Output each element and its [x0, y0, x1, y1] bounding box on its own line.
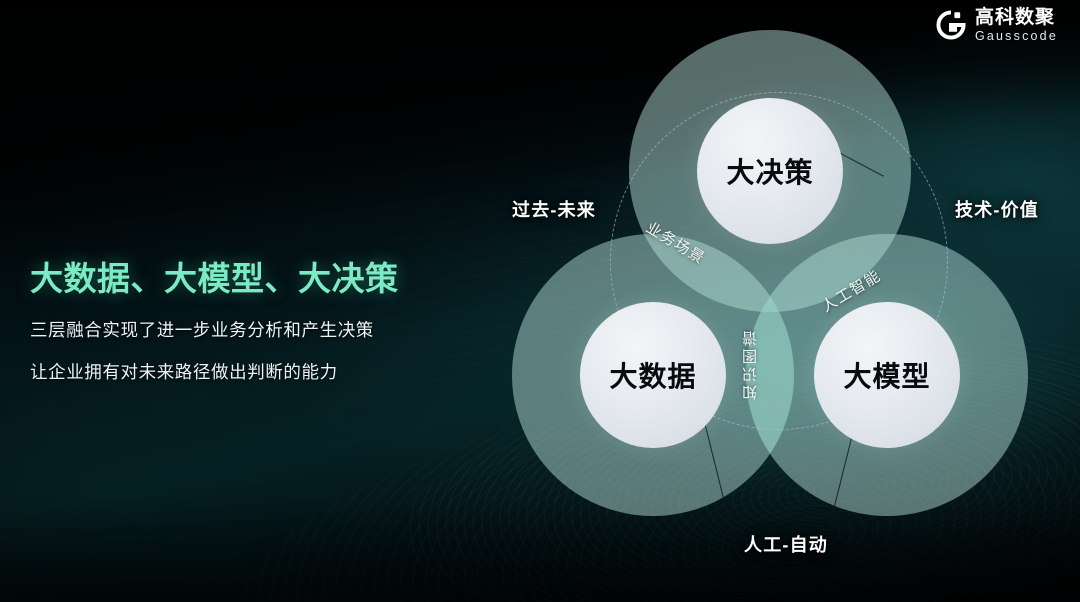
overlap-label-knowledge-graph: 知识图谱 — [740, 328, 761, 400]
venn-label-decision: 大决策 — [726, 151, 813, 191]
axis-label-manual-auto: 人工-自动 — [744, 531, 828, 557]
venn-label-bigmodel: 大模型 — [843, 355, 930, 395]
venn-diagram: 大决策 大数据 大模型 业务场景 人工智能 知识图谱 — [488, 10, 1068, 590]
venn-inner-disc-bigmodel: 大模型 — [814, 302, 960, 448]
venn-label-bigdata: 大数据 — [609, 355, 696, 395]
copy-line-2: 让企业拥有对未来路径做出判断的能力 — [30, 359, 460, 384]
copy-block: 大数据、大模型、大决策 三层融合实现了进一步业务分析和产生决策 让企业拥有对未来… — [30, 252, 460, 401]
copy-line-1: 三层融合实现了进一步业务分析和产生决策 — [30, 317, 460, 342]
page-title: 大数据、大模型、大决策 — [30, 252, 460, 300]
venn-inner-disc-bigdata: 大数据 — [580, 302, 726, 448]
axis-label-past-future: 过去-未来 — [512, 196, 596, 222]
slide-canvas: 高科数聚 Gausscode 大数据、大模型、大决策 三层融合实现了进一步业务分… — [0, 0, 1080, 602]
venn-inner-disc-decision: 大决策 — [697, 98, 843, 244]
axis-label-tech-value: 技术-价值 — [955, 196, 1039, 222]
